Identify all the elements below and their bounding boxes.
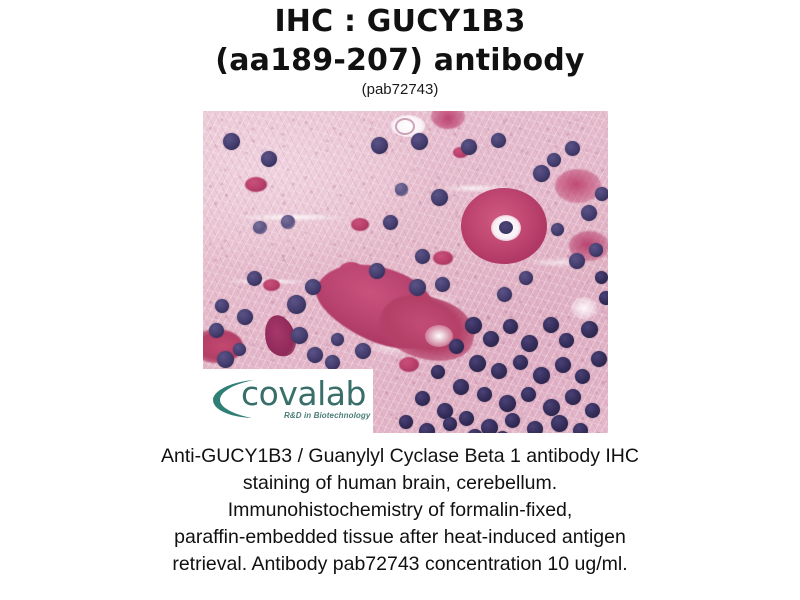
chromogen-speck-d	[433, 251, 453, 265]
cell-nucleus	[371, 137, 388, 154]
cell-nucleus	[497, 287, 512, 302]
cell-nucleus	[253, 221, 267, 234]
cell-nucleus	[411, 133, 428, 150]
capillary-ring-top	[395, 118, 415, 135]
granule-cell-nucleus	[499, 395, 516, 412]
covalab-logo: covalab R&D in Biotechnology	[210, 375, 368, 427]
granule-cell-nucleus	[573, 423, 588, 433]
cell-nucleus	[281, 215, 295, 229]
cell-nucleus	[331, 333, 344, 346]
cell-nucleus	[233, 343, 246, 356]
cell-nucleus	[291, 327, 308, 344]
caption-line-3: Immunohistochemistry of formalin-fixed,	[60, 497, 740, 524]
covalab-logo-plate: covalab R&D in Biotechnology	[203, 369, 373, 433]
granule-cell-nucleus	[513, 355, 528, 370]
page-title-line-1: IHC : GUCY1B3	[0, 2, 800, 41]
product-code-subtitle: (pab72743)	[0, 81, 800, 99]
cell-nucleus	[569, 253, 585, 269]
granule-cell-nucleus	[469, 355, 486, 372]
granule-cell-nucleus	[503, 319, 518, 334]
granule-cell-nucleus	[543, 317, 559, 333]
cell-nucleus	[461, 139, 477, 155]
cell-nucleus	[595, 187, 608, 201]
chromogen-speck-c	[351, 218, 369, 231]
cell-nucleus	[209, 323, 224, 338]
covalab-tagline: R&D in Biotechnology	[284, 411, 370, 421]
cell-nucleus	[215, 299, 229, 313]
granule-cell-nucleus	[585, 403, 600, 418]
cell-nucleus	[223, 133, 240, 150]
granule-cell-nucleus	[419, 423, 435, 433]
cell-nucleus	[287, 295, 306, 314]
granule-cell-nucleus	[543, 399, 560, 416]
caption-line-1: Anti-GUCY1B3 / Guanylyl Cyclase Beta 1 a…	[60, 443, 740, 470]
blood-vessel-lumen-nucleus	[499, 221, 513, 234]
granule-cell-nucleus	[415, 391, 430, 406]
granule-cell-nucleus	[599, 291, 608, 305]
granule-cell-nucleus	[591, 351, 607, 367]
cell-nucleus	[533, 165, 550, 182]
granule-cell-nucleus	[575, 369, 590, 384]
granule-cell-nucleus	[483, 331, 499, 347]
cell-nucleus	[261, 151, 277, 167]
granule-cell-nucleus	[481, 419, 498, 433]
chromogen-speck-g	[399, 357, 419, 372]
cell-nucleus	[565, 141, 580, 156]
cell-nucleus	[217, 351, 234, 368]
granule-cell-nucleus	[581, 321, 598, 338]
cell-nucleus	[237, 309, 253, 325]
granule-cell-nucleus	[453, 379, 469, 395]
cell-nucleus	[415, 249, 430, 264]
chromogen-blob-right-upper	[555, 169, 601, 203]
cell-nucleus	[519, 271, 533, 285]
granule-cell-nucleus	[443, 417, 457, 431]
cell-nucleus	[369, 263, 385, 279]
granule-cell-nucleus	[399, 415, 413, 429]
cell-nucleus	[395, 183, 408, 196]
cell-nucleus	[247, 271, 262, 286]
cell-nucleus	[551, 223, 564, 236]
title-block: IHC : GUCY1B3 (aa189-207) antibody (pab7…	[0, 2, 800, 99]
granule-cell-nucleus	[431, 365, 445, 379]
granule-cell-nucleus	[533, 367, 550, 384]
chromogen-speck-b	[245, 177, 267, 192]
cell-nucleus	[409, 279, 426, 296]
granule-cell-nucleus	[521, 387, 536, 402]
granule-cell-nucleus	[565, 389, 581, 405]
cell-nucleus	[581, 205, 597, 221]
cell-nucleus	[325, 355, 340, 370]
figure-caption: Anti-GUCY1B3 / Guanylyl Cyclase Beta 1 a…	[60, 443, 740, 578]
granule-cell-nucleus	[521, 335, 538, 352]
chromogen-speck-f	[263, 279, 280, 291]
cell-nucleus	[305, 279, 321, 295]
cell-nucleus	[435, 277, 450, 292]
cell-nucleus	[307, 347, 323, 363]
cell-nucleus	[355, 343, 371, 359]
granule-cell-nucleus	[527, 421, 543, 433]
cell-nucleus	[589, 243, 603, 257]
granule-cell-nucleus	[477, 387, 492, 402]
granule-cell-nucleus	[555, 357, 571, 373]
caption-line-2: staining of human brain, cerebellum.	[60, 470, 740, 497]
vacuole-right	[571, 297, 597, 319]
granule-cell-nucleus	[449, 339, 464, 354]
cell-nucleus	[431, 189, 448, 206]
granule-cell-nucleus	[505, 413, 520, 428]
granule-cell-nucleus	[491, 363, 507, 379]
cell-nucleus	[491, 133, 506, 148]
covalab-wordmark: covalab	[241, 374, 366, 414]
granule-cell-nucleus	[595, 271, 608, 284]
granule-cell-nucleus	[559, 333, 574, 348]
cell-nucleus	[547, 153, 561, 167]
cell-nucleus	[383, 215, 398, 230]
page-title-line-2: (aa189-207) antibody	[0, 41, 800, 80]
granule-cell-nucleus	[551, 415, 568, 432]
granule-cell-nucleus	[459, 411, 474, 426]
caption-line-5: retrieval. Antibody pab72743 concentrati…	[60, 551, 740, 578]
ihc-micrograph-image: covalab R&D in Biotechnology	[203, 111, 608, 433]
granule-cell-nucleus	[465, 317, 482, 334]
caption-line-4: paraffin-embedded tissue after heat-indu…	[60, 524, 740, 551]
